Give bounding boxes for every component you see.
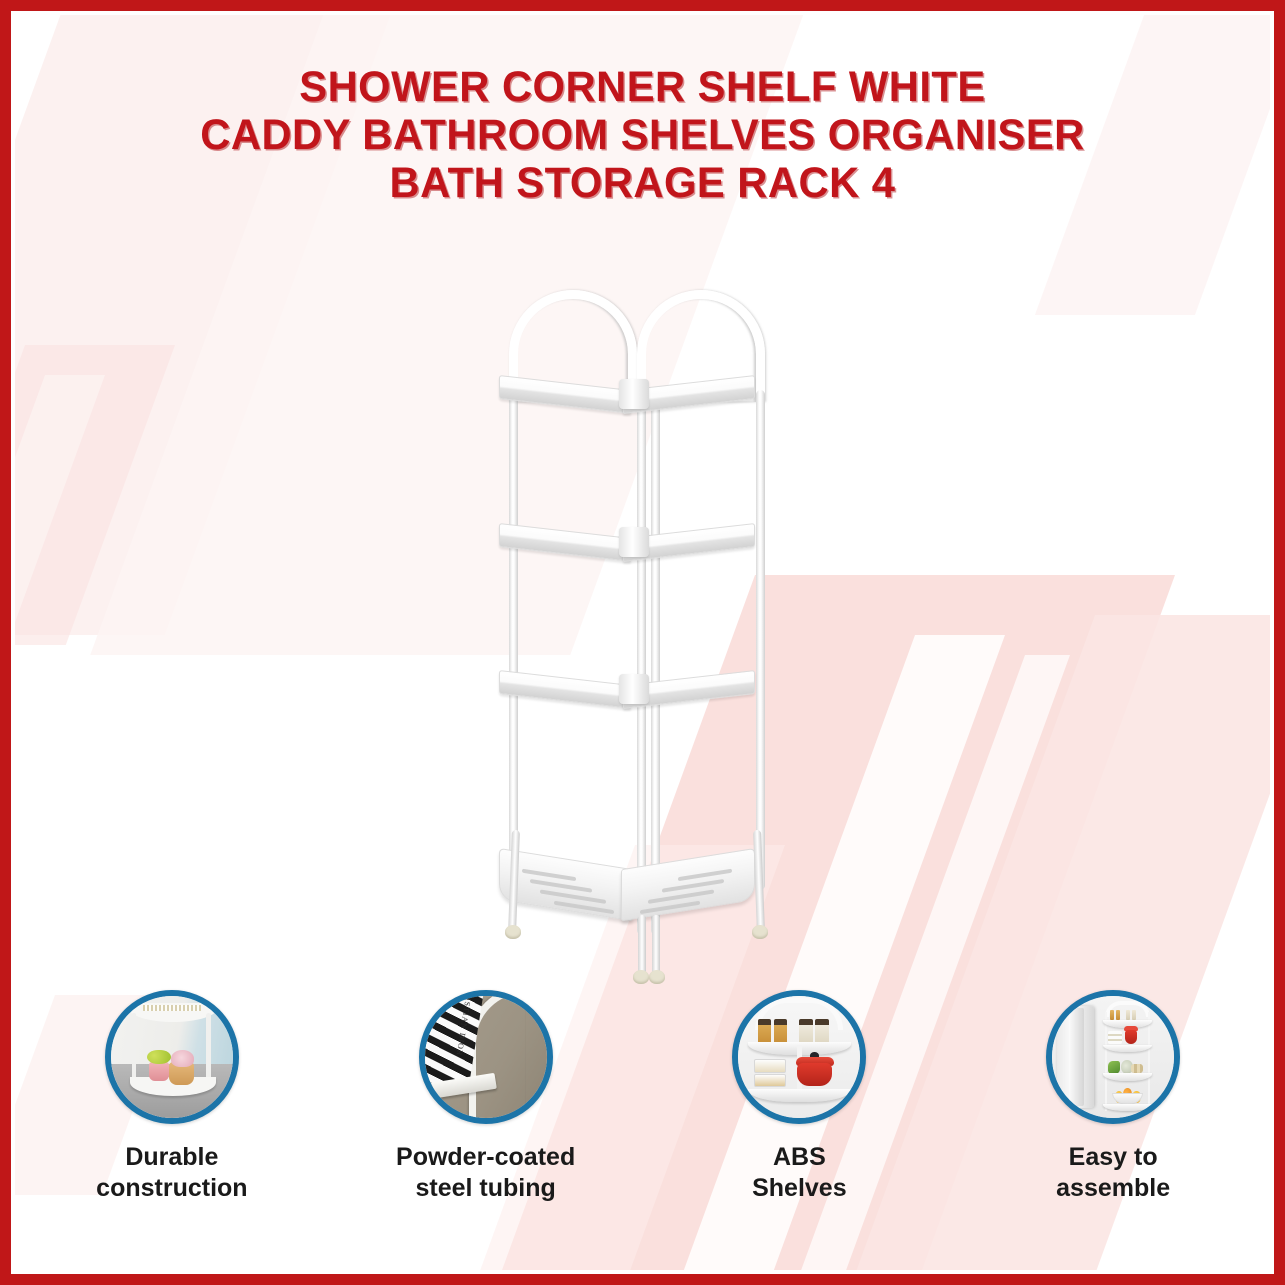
scene-leg-right: [206, 1013, 211, 1084]
feature-list: Durable construction CHRISTIAN DIOR: [15, 990, 1270, 1270]
feature-item-easy-to-assemble: Easy to assemble: [956, 990, 1270, 1270]
feature-label-line-2: Shelves: [752, 1173, 847, 1204]
scene-rack: [1101, 1001, 1155, 1113]
shelf-center-hub: [619, 527, 649, 557]
feature-label: Easy to assemble: [1056, 1142, 1170, 1204]
scene-jar-lid: [799, 1019, 812, 1025]
feature-label: Durable construction: [96, 1142, 247, 1204]
corner-shelf-with-plants-photo-icon: [105, 990, 239, 1124]
rack-leg-center-b: [652, 915, 660, 977]
diagonal-shape: [15, 375, 105, 635]
shelf-slat: [540, 889, 606, 903]
scene-post-right: [1148, 1012, 1150, 1111]
rack-foot-center-b: [649, 970, 665, 984]
scene-post-left: [1105, 1012, 1107, 1111]
diagonal-shape: [15, 345, 175, 645]
scene-jar-lid: [758, 1019, 771, 1025]
feature-item-abs-shelves: ABS Shelves: [643, 990, 957, 1270]
feature-item-durable-construction: Durable construction: [15, 990, 329, 1270]
scene-pink-pot: [149, 1062, 170, 1082]
scene-root-vegetable: [1131, 1064, 1143, 1073]
scene-container-stack: [1108, 1031, 1122, 1043]
feature-label-line-1: Easy to: [1056, 1142, 1170, 1173]
scene-jar: [1116, 1010, 1120, 1020]
photo-scene: CHRISTIAN DIOR: [425, 996, 547, 1118]
page-title: SHOWER CORNER SHELF WHITE CADDY BATHROOM…: [15, 63, 1270, 207]
photo-scene: [111, 996, 233, 1118]
scene-food-container-top: [754, 1059, 786, 1072]
shelf-slat: [662, 879, 724, 893]
feature-item-powder-coated-steel-tubing: CHRISTIAN DIOR Powder-coated steel tubin…: [329, 990, 643, 1270]
shelf-half-left: [499, 848, 633, 921]
scene-leg-left: [132, 1013, 137, 1084]
poster-inner: SHOWER CORNER SHELF WHITE CADDY BATHROOM…: [15, 15, 1270, 1270]
rack-shelf-4-slotted: [499, 848, 755, 922]
shelf-half-left: [499, 523, 631, 562]
rack-beside-fridge-photo-icon: [1046, 990, 1180, 1124]
scene-jar: [1132, 1010, 1136, 1020]
rack-post-left: [509, 390, 518, 890]
scene-jar-lid: [815, 1019, 828, 1025]
scene-shelf-4: [1103, 1104, 1152, 1111]
feature-label-line-1: Powder-coated: [396, 1142, 575, 1173]
rack-foot-left: [505, 925, 521, 939]
shelf-half-left: [499, 375, 631, 414]
feature-label-line-1: ABS: [752, 1142, 847, 1173]
scene-jar-lid: [774, 1019, 787, 1025]
rack-leg-center-a: [638, 915, 646, 977]
hero-product-image: [485, 270, 830, 970]
rack-shelf-3: [499, 670, 755, 716]
scene-red-pot: [1125, 1030, 1138, 1043]
shelf-half-left: [499, 670, 631, 709]
photo-scene: [738, 996, 860, 1118]
shelf-slat: [648, 889, 714, 903]
scene-food-container-bottom: [754, 1074, 786, 1087]
scene-pink-flower: [171, 1050, 194, 1067]
scene-green-vegetable: [1108, 1061, 1120, 1073]
rack-foot-center-a: [633, 970, 649, 984]
rack-shelf-1: [499, 375, 755, 421]
scene-shelf-3: [1103, 1073, 1152, 1081]
scene-green-plant: [147, 1050, 170, 1065]
scene-shelf-vents: [143, 1005, 202, 1011]
rack-shelf-2: [499, 523, 755, 569]
title-line-2: CADDY BATHROOM SHELVES ORGANISER: [34, 111, 1251, 159]
feature-label: ABS Shelves: [752, 1142, 847, 1204]
shelf-half-right: [621, 848, 755, 921]
shelves-with-jars-and-pot-photo-icon: [732, 990, 866, 1124]
feature-label-line-2: assemble: [1056, 1173, 1170, 1204]
rack-post-right: [756, 390, 765, 890]
title-line-1: SHOWER CORNER SHELF WHITE: [34, 63, 1251, 111]
steel-tube-closeup-photo-icon: CHRISTIAN DIOR: [419, 990, 553, 1124]
scene-shelf-2: [1103, 1045, 1152, 1053]
shelf-center-hub: [619, 379, 649, 409]
feature-label-line-2: steel tubing: [396, 1173, 575, 1204]
rack-foot-right: [752, 925, 768, 939]
scene-red-pot: [797, 1063, 832, 1086]
feature-label-line-2: construction: [96, 1173, 247, 1204]
scene-jar: [1126, 1010, 1130, 1020]
photo-scene: [1052, 996, 1174, 1118]
scene-fridge-door: [1069, 1008, 1084, 1106]
title-line-3: BATH STORAGE RACK 4: [34, 159, 1251, 207]
feature-label: Powder-coated steel tubing: [396, 1142, 575, 1204]
scene-jar: [1110, 1010, 1114, 1020]
product-poster: SHOWER CORNER SHELF WHITE CADDY BATHROOM…: [0, 0, 1285, 1285]
shelf-center-hub: [619, 674, 649, 704]
feature-label-line-1: Durable: [96, 1142, 247, 1173]
